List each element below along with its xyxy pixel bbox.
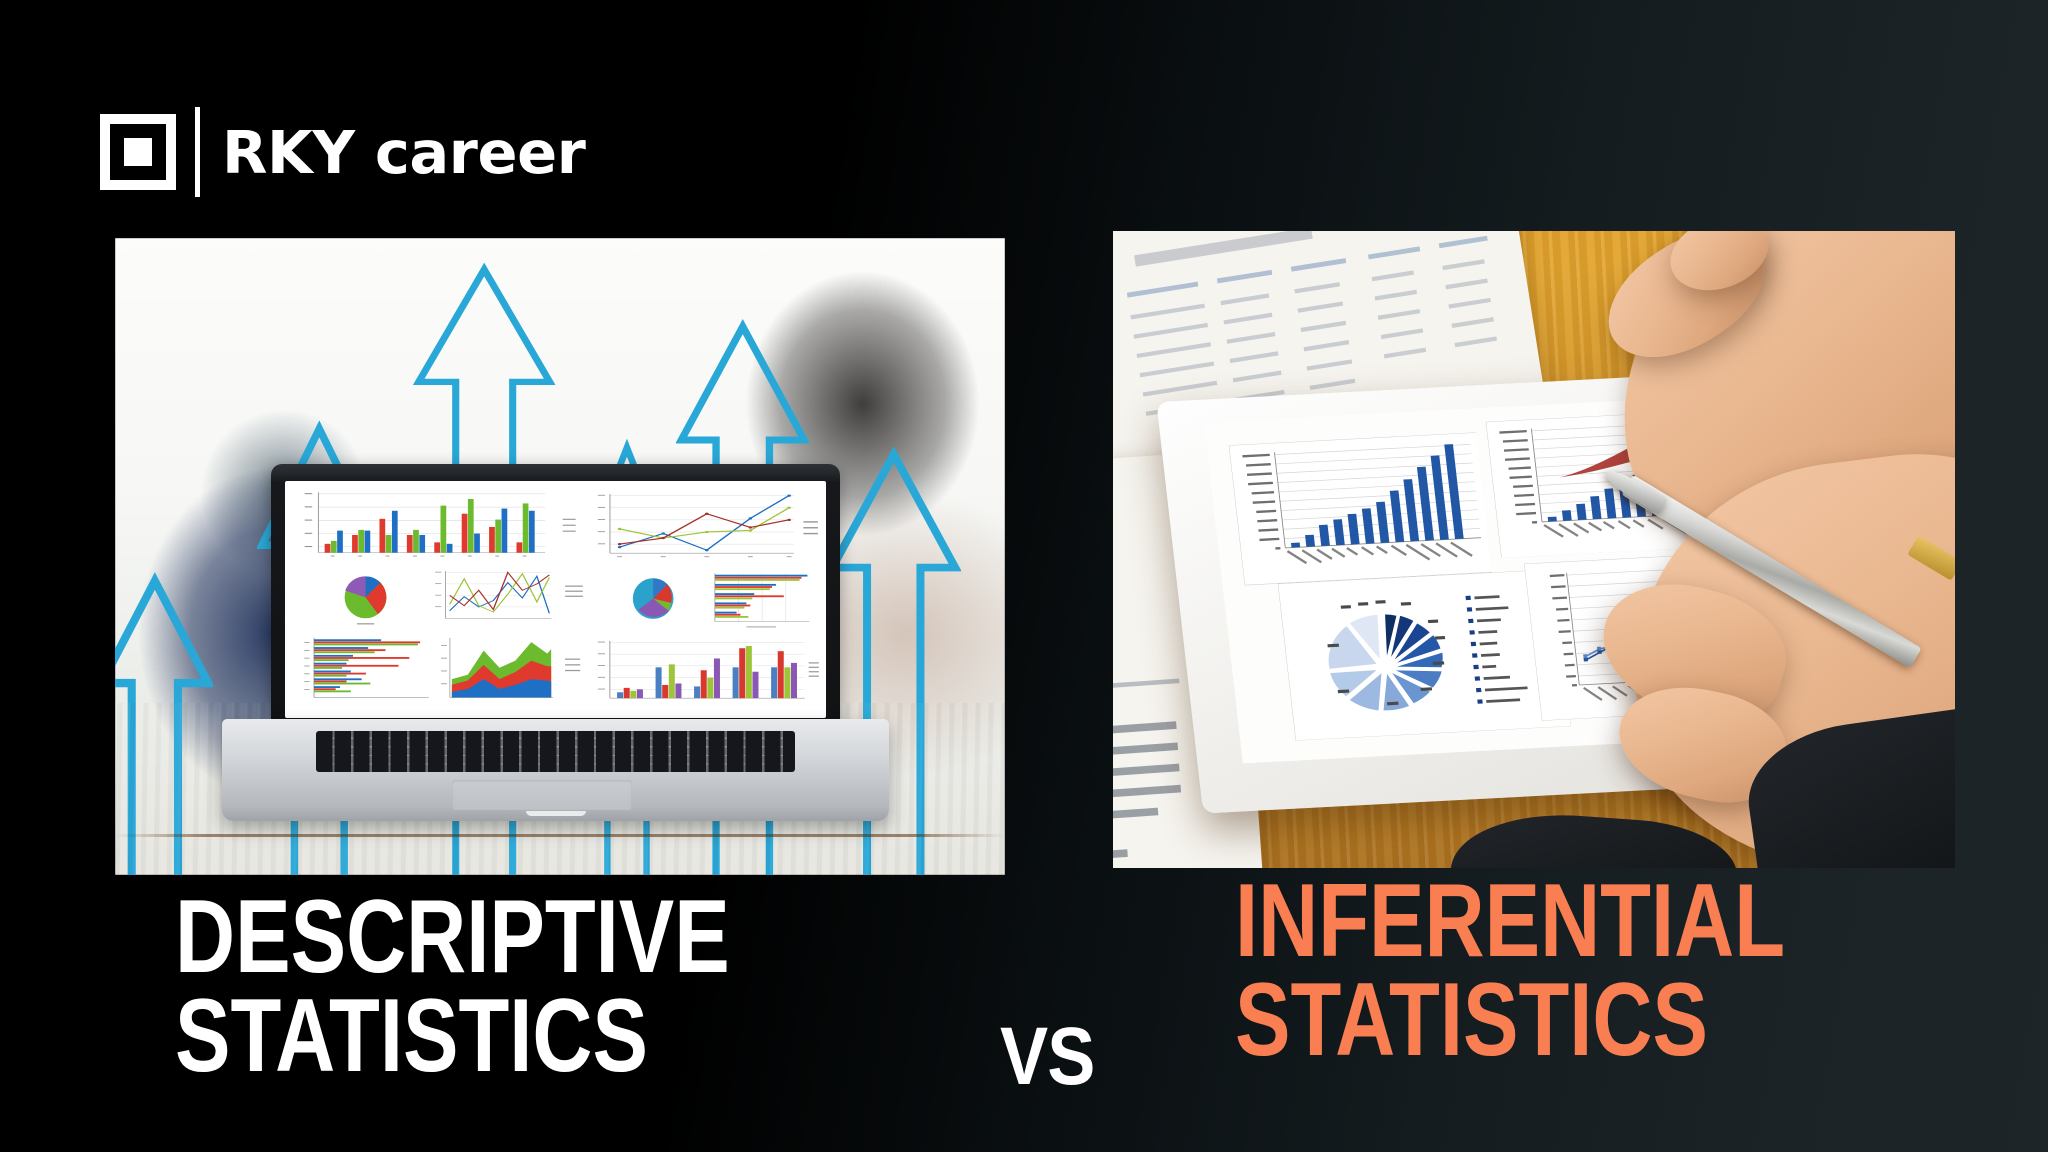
laptop-keyboard — [316, 731, 796, 772]
laptop-trackpad — [452, 780, 632, 809]
chart-monthly-bars — [1229, 432, 1493, 585]
desk-edge — [115, 834, 1005, 837]
chart-pie-right — [599, 569, 707, 631]
brand-name: RKY career — [222, 123, 585, 182]
right-title-line2: STATISTICS — [1235, 962, 1708, 1078]
left-title-line2: STATISTICS — [175, 978, 648, 1094]
chart-legend — [558, 514, 585, 538]
chart-bars-4series — [593, 635, 810, 708]
chart-legend — [561, 656, 588, 675]
left-title: DESCRIPTIVESTATISTICS — [175, 888, 730, 1086]
inferential-statistics-image — [1113, 231, 1955, 868]
chart-hbars-left — [301, 635, 431, 706]
chart-small-lines — [431, 566, 556, 630]
laptop-base — [222, 719, 888, 821]
chart-legend — [802, 519, 824, 538]
laptop — [271, 464, 841, 821]
chart-legend — [807, 661, 824, 680]
right-title: INFERENTIALSTATISTICS — [1235, 872, 1785, 1070]
laptop-lid — [271, 464, 841, 728]
square-logo-icon — [100, 114, 176, 190]
chart-pie-left — [306, 569, 425, 631]
square-logo-inner-icon — [124, 138, 152, 166]
chart-legend — [561, 583, 591, 602]
brand-logo[interactable]: RKY career — [100, 112, 585, 192]
logo-divider — [195, 107, 200, 197]
chart-grouped-bars — [301, 488, 550, 561]
poster-canvas: RKY career — [0, 0, 2048, 1152]
vs-label: VS — [1000, 1010, 1095, 1104]
chart-line-trend — [593, 488, 799, 564]
chart-hbars-right — [707, 571, 815, 633]
laptop-screen — [285, 481, 827, 718]
laptop-front-notch — [526, 811, 586, 816]
descriptive-statistics-image — [115, 238, 1005, 875]
chart-stacked-area — [436, 635, 555, 706]
